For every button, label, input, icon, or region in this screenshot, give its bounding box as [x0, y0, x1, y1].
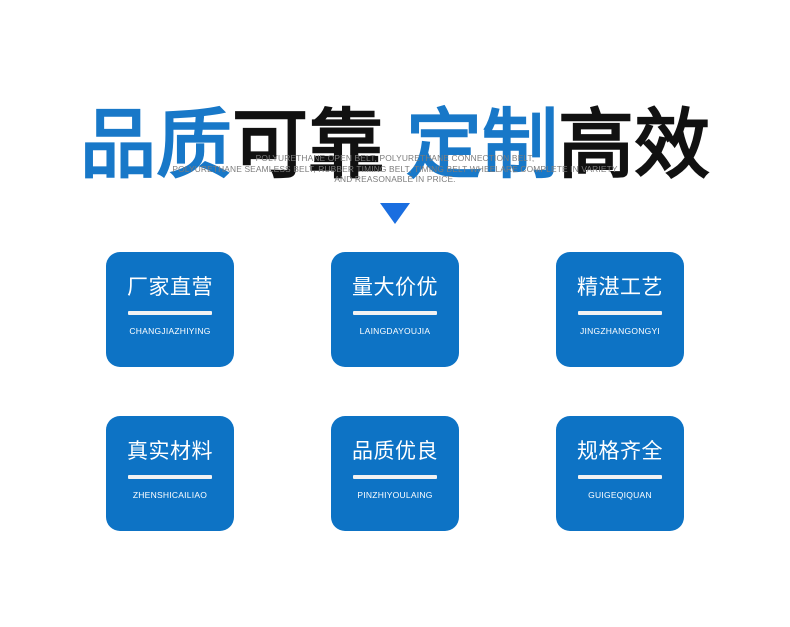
feature-card-zhenshicailiao[interactable]: 真实材料 ZHENSHICAILIAO — [106, 416, 234, 531]
feature-card-pinyin: ZHENSHICAILIAO — [133, 490, 207, 500]
subtitle-line-3: AND REASONABLE IN PRICE. — [0, 174, 790, 185]
feature-card-divider — [578, 475, 662, 479]
feature-card-pinyin: CHANGJIAZHIYING — [129, 326, 210, 336]
feature-card-grid: 厂家直营 CHANGJIAZHIYING 量大价优 LAINGDAYOUJIA … — [106, 252, 684, 531]
feature-card-jingzhangongyi[interactable]: 精湛工艺 JINGZHANGONGYI — [556, 252, 684, 367]
feature-card-divider — [128, 475, 212, 479]
feature-card-row-1: 厂家直营 CHANGJIAZHIYING 量大价优 LAINGDAYOUJIA … — [106, 252, 684, 367]
triangle-down-icon — [380, 203, 410, 224]
subtitle-line-2: POLYURETHANE SEAMLESS BELT, RUBBER TIMIN… — [0, 164, 790, 175]
feature-card-pinzhiyoulaing[interactable]: 品质优良 PINZHIYOULAING — [331, 416, 459, 531]
feature-card-title: 真实材料 — [127, 438, 213, 464]
feature-card-divider — [353, 311, 437, 315]
subtitle-line-1: POLYURETHANE OPEN BELT, POLYURETHANE CON… — [0, 153, 790, 164]
feature-card-pinyin: JINGZHANGONGYI — [580, 326, 660, 336]
feature-card-title: 精湛工艺 — [577, 274, 663, 300]
subtitle: POLYURETHANE OPEN BELT, POLYURETHANE CON… — [0, 153, 790, 185]
feature-card-changjiazhiying[interactable]: 厂家直营 CHANGJIAZHIYING — [106, 252, 234, 367]
feature-card-pinyin: GUIGEQIQUAN — [588, 490, 652, 500]
feature-card-title: 量大价优 — [352, 274, 438, 300]
feature-card-pinyin: LAINGDAYOUJIA — [360, 326, 431, 336]
feature-card-laingdayoujia[interactable]: 量大价优 LAINGDAYOUJIA — [331, 252, 459, 367]
feature-card-pinyin: PINZHIYOULAING — [357, 490, 432, 500]
feature-card-title: 规格齐全 — [577, 438, 663, 464]
feature-card-divider — [128, 311, 212, 315]
feature-card-divider — [578, 311, 662, 315]
feature-card-divider — [353, 475, 437, 479]
feature-card-row-2: 真实材料 ZHENSHICAILIAO 品质优良 PINZHIYOULAING … — [106, 416, 684, 531]
feature-card-title: 品质优良 — [352, 438, 438, 464]
arrow-container — [0, 203, 790, 224]
feature-card-title: 厂家直营 — [127, 274, 213, 300]
feature-card-guigeqiquan[interactable]: 规格齐全 GUIGEQIQUAN — [556, 416, 684, 531]
promo-banner: 品质可靠定制高效 POLYURETHANE OPEN BELT, POLYURE… — [0, 0, 790, 627]
